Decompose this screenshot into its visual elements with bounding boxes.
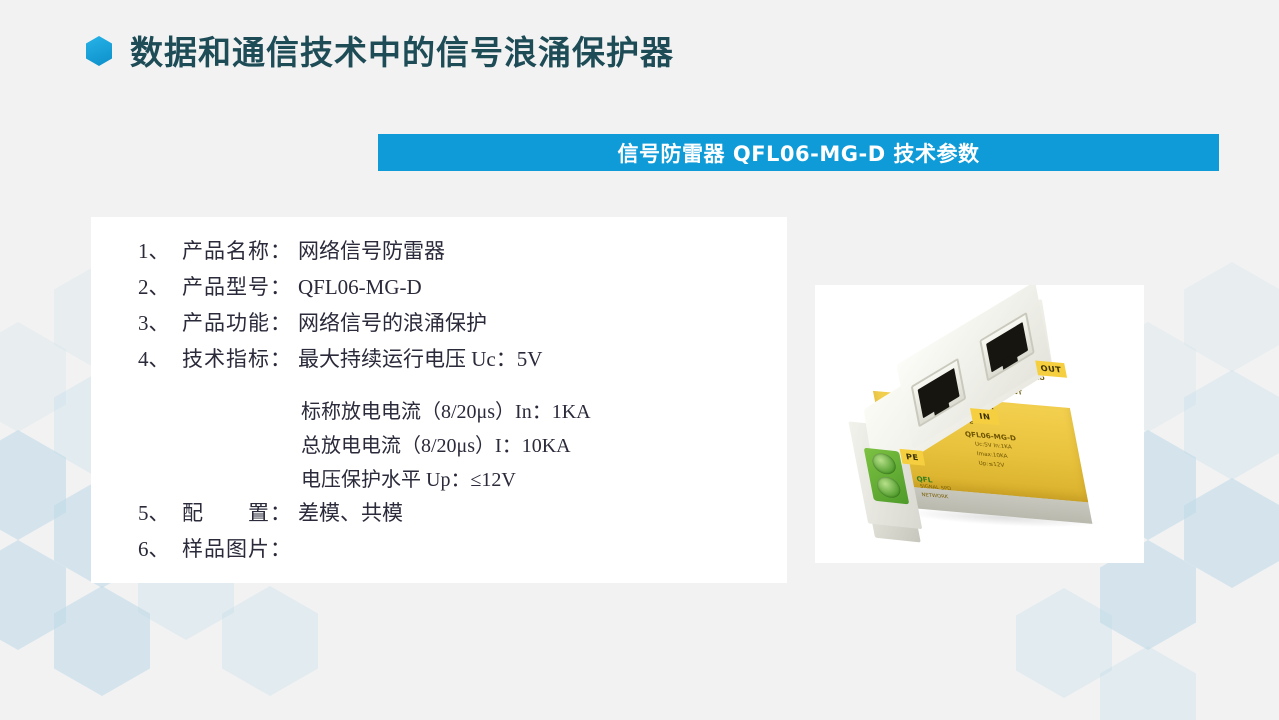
surge-protector-device-illustration: QFL06-MG-D Uc:5V In:1KA Imax:10KA Up:≤12… [827, 285, 1125, 561]
background-hexagon [1016, 588, 1112, 698]
spec-row-label: 技术指标： [182, 343, 292, 373]
spec-row-label: 产品型号： [182, 271, 292, 301]
page-header: 数据和通信技术中的信号浪涌保护器 [0, 0, 1279, 100]
spec-row: 4、 技术指标： 最大持续运行电压 Uc：5V [91, 343, 787, 379]
page-title: 数据和通信技术中的信号浪涌保护器 [130, 26, 674, 74]
background-hexagon [222, 586, 318, 696]
spec-row-value: 网络信号的浪涌保护 [298, 307, 487, 337]
spec-row-number: 5、 [138, 497, 182, 527]
specification-card: 1、 产品名称： 网络信号防雷器 2、 产品型号： QFL06-MG-D 3、 … [91, 217, 787, 583]
spec-row-value: 网络信号防雷器 [298, 235, 445, 265]
spec-row-value: QFL06-MG-D [298, 275, 422, 300]
background-hexagon [54, 586, 150, 696]
spec-row-number: 2、 [138, 271, 182, 301]
spec-row-label: 产品功能： [182, 307, 292, 337]
spec-sub-row: 总放电电流（8/20μs）I：10KA [91, 429, 787, 463]
spec-row: 1、 产品名称： 网络信号防雷器 [91, 235, 787, 271]
spec-row-label: 样品图片： [182, 533, 292, 563]
port-label-in: IN [970, 408, 1000, 425]
terminal-screw [871, 452, 898, 475]
section-banner-title: 信号防雷器 QFL06-MG-D 技术参数 [618, 138, 980, 168]
product-photo: QFL06-MG-D Uc:5V In:1KA Imax:10KA Up:≤12… [815, 285, 1144, 563]
background-hexagon [0, 540, 66, 650]
spec-sub-row: 标称放电电流（8/20μs）In：1KA [91, 395, 787, 429]
section-banner: 信号防雷器 QFL06-MG-D 技术参数 [378, 134, 1219, 171]
background-hexagon [1184, 370, 1279, 480]
background-hexagon [0, 430, 66, 540]
specification-list: 1、 产品名称： 网络信号防雷器 2、 产品型号： QFL06-MG-D 3、 … [91, 235, 787, 569]
product-photo-card: QFL06-MG-D Uc:5V In:1KA Imax:10KA Up:≤12… [815, 285, 1144, 563]
background-hexagon [1184, 478, 1279, 588]
spec-row-number: 1、 [138, 235, 182, 265]
spec-row-number: 6、 [138, 533, 182, 563]
spec-row-label: 配 置： [182, 497, 292, 527]
ground-label-pe: PE [900, 449, 926, 466]
spec-row: 3、 产品功能： 网络信号的浪涌保护 [91, 307, 787, 343]
spec-row: 5、 配 置： 差模、共模 [91, 497, 787, 533]
spec-row-value: 最大持续运行电压 Uc：5V [298, 343, 542, 373]
spec-row-label: 产品名称： [182, 235, 292, 265]
background-hexagon [0, 322, 66, 432]
port-label-out: OUT [1035, 361, 1067, 378]
terminal-screw [875, 476, 902, 499]
spec-row: 6、 样品图片： [91, 533, 787, 569]
spec-row-number: 3、 [138, 307, 182, 337]
background-hexagon [1100, 646, 1196, 720]
spec-row-number: 4、 [138, 343, 182, 373]
hexagon-bullet-icon [86, 36, 112, 66]
spec-row-value: 差模、共模 [298, 497, 403, 527]
spec-row: 2、 产品型号： QFL06-MG-D [91, 271, 787, 307]
spec-spacer [91, 379, 787, 395]
background-hexagon [1184, 262, 1279, 372]
spec-sub-row: 电压保护水平 Up：≤12V [91, 463, 787, 497]
